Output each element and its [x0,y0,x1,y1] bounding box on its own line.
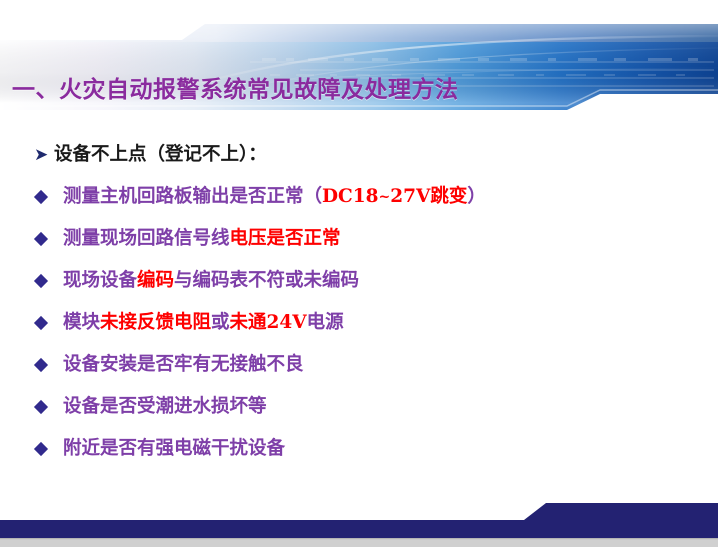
list-item-text: 附近是否有强电磁干扰设备 [63,440,285,459]
list-item-heading: ➤ 设备不上点（登记不上）： [34,140,267,170]
bullet-list: ➤ 设备不上点（登记不上）： 测量主机回路板输出是否正常（DC18~27V跳变）… [0,130,718,480]
list-item: 测量现场回路信号线电压是否正常 [34,224,341,254]
list-item-heading-label: 设备不上点（登记不上）： [54,146,267,165]
slide-canvas: 一、火灾自动报警系统常见故障及处理方法 ➤ 设备不上点（登记不上）： 测量主机回… [0,0,718,547]
footer-graphic [0,495,718,547]
list-item: 设备安装是否牢有无接触不良 [34,350,304,380]
slide-header-banner: 一、火灾自动报警系统常见故障及处理方法 [0,18,718,118]
list-item: 设备是否受潮进水损坏等 [34,392,267,422]
list-item-text: 现场设备 [63,272,137,291]
list-item-highlight: 未接反馈电阻 [100,314,211,333]
list-item-text: 电源 [307,314,344,333]
diamond-bullet-icon [34,441,50,457]
diamond-bullet-icon [34,357,50,373]
list-item: 附近是否有强电磁干扰设备 [34,434,285,464]
diamond-bullet-icon [34,189,50,205]
list-item-text: 测量主机回路板输出是否正常（ [63,188,322,207]
list-item-highlight: 编码 [137,272,174,291]
list-item-text: 设备是否受潮进水损坏等 [63,398,267,417]
list-item-highlight: 未通24V [230,314,307,333]
list-item-text: 测量现场回路信号线 [63,230,230,249]
arrow-bullet-icon: ➤ [34,147,54,164]
list-item-tilde: ~ [379,190,391,204]
list-item: 模块未接反馈电阻或未通24V电源 [34,308,344,338]
list-item-text: 模块 [63,314,100,333]
diamond-bullet-icon [34,315,50,331]
list-item: 现场设备编码与编码表不符或未编码 [34,266,359,296]
list-item-highlight: DC18 [322,188,379,207]
list-item: 测量主机回路板输出是否正常（DC18~27V跳变） [34,182,486,212]
slide-footer: 智森消防 zmjaxf.com [0,495,718,547]
list-item-text: 设备安装是否牢有无接触不良 [63,356,304,375]
diamond-bullet-icon [34,273,50,289]
diamond-bullet-icon [34,399,50,415]
list-item-highlight: 27V跳变 [390,188,467,207]
list-item-text: ） [467,188,486,207]
diamond-bullet-icon [34,231,50,247]
list-item-highlight: 电压是否正常 [230,230,341,249]
page-title: 一、火灾自动报警系统常见故障及处理方法 [12,70,459,104]
list-item-text: 与编码表不符或未编码 [174,272,359,291]
list-item-text: 或 [211,314,230,333]
